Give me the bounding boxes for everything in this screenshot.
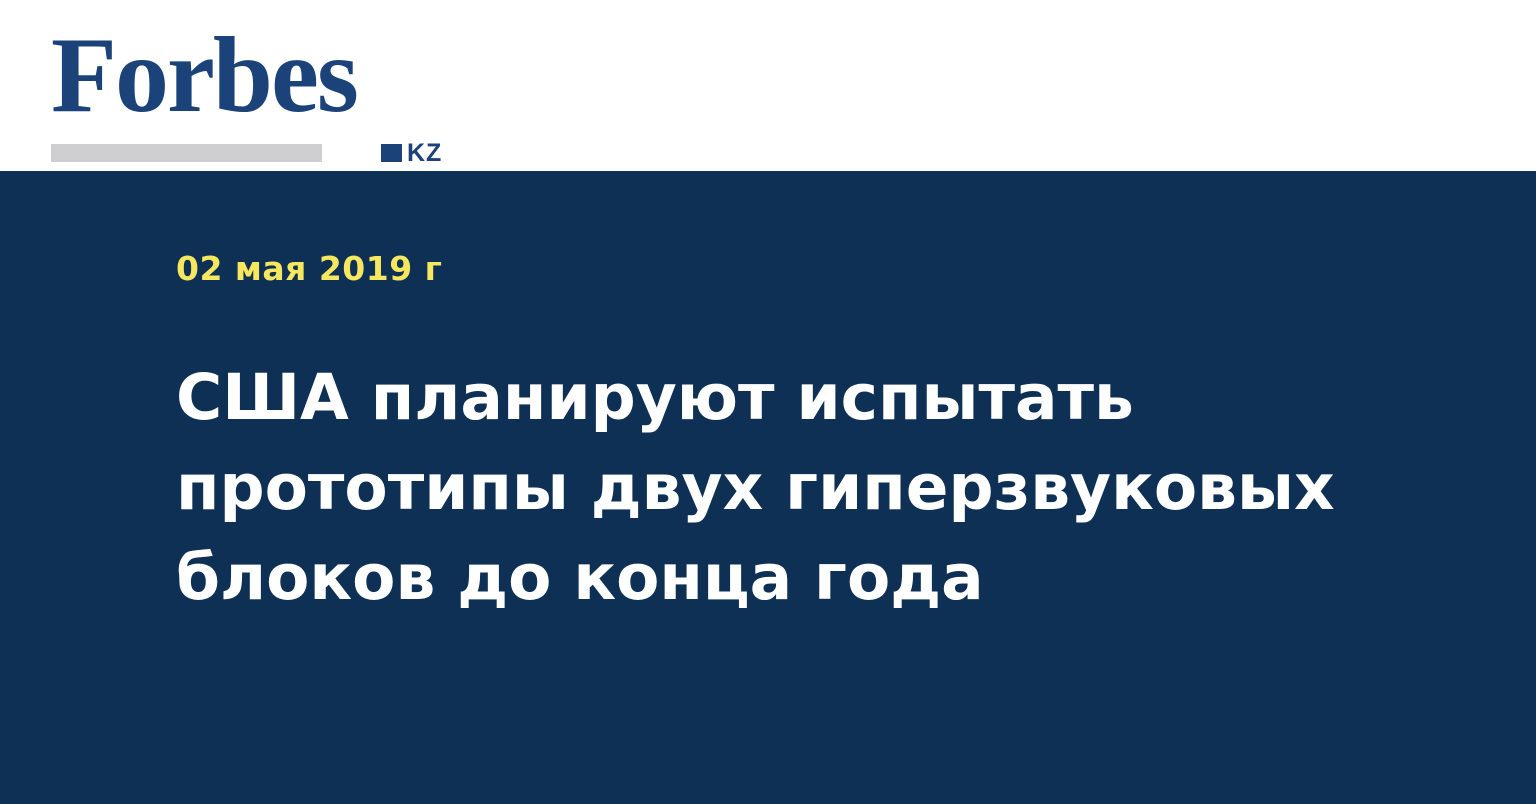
- article-title: США планируют испытать прототипы двух ги…: [176, 353, 1336, 623]
- logo-region-code-text: KZ: [407, 141, 442, 166]
- site-logo[interactable]: Forbes KZ: [51, 22, 411, 152]
- article-hero-band: 02 мая 2019 г США планируют испытать про…: [0, 171, 1536, 804]
- logo-kz-square-icon: [381, 144, 402, 162]
- logo-underbar-rule: [51, 144, 322, 162]
- site-masthead: Forbes KZ: [0, 0, 1536, 171]
- article-title-line-2: прототипы двух гиперзвуковых: [176, 443, 1336, 533]
- logo-wordmark-text: Forbes: [51, 22, 357, 130]
- article-publish-date: 02 мая 2019 г: [176, 250, 442, 288]
- article-hero-page: Forbes KZ 02 мая 2019 г США планируют ис…: [0, 0, 1536, 804]
- article-title-line-3: блоков до конца года: [176, 533, 1336, 623]
- article-title-line-1: США планируют испытать: [176, 353, 1336, 443]
